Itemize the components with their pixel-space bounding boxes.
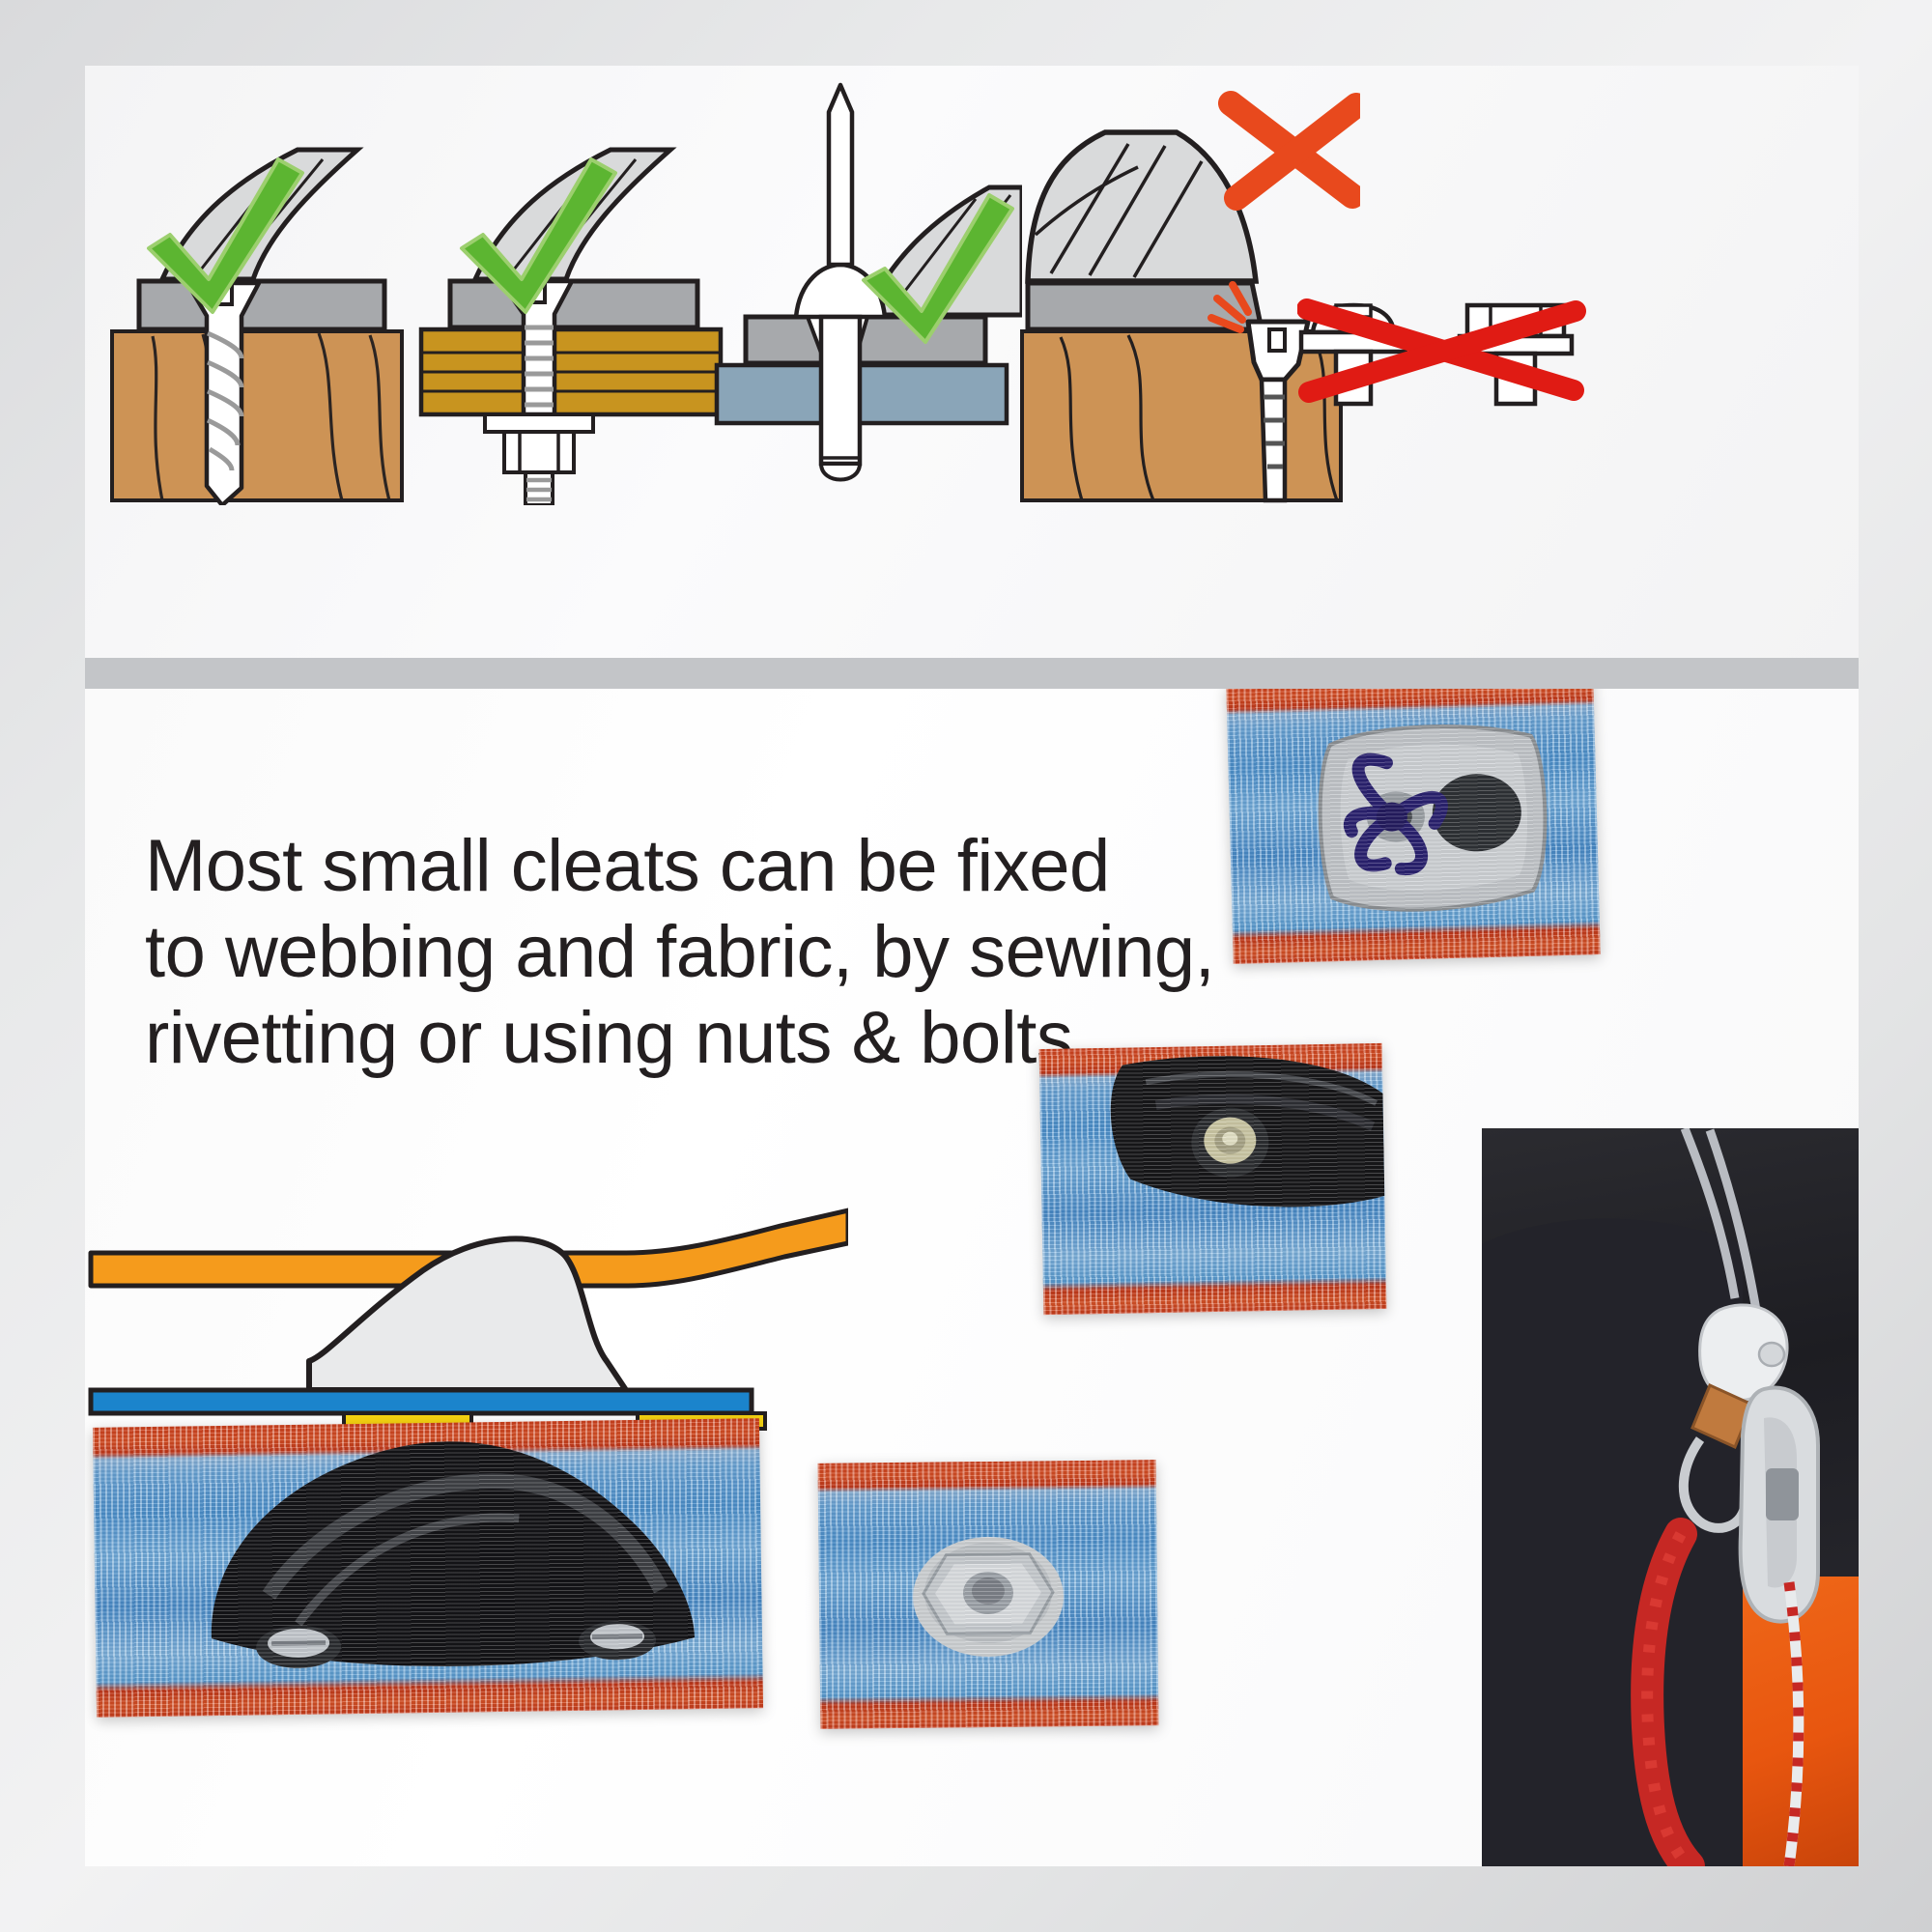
diagram-cleat-section <box>85 1201 848 1442</box>
photo-nyloc-nut <box>818 1460 1159 1729</box>
poster-card: Most small cleats can be fixed to webbin… <box>85 66 1859 1866</box>
fig-wrong-head-types <box>1297 298 1587 462</box>
fig-pop-rivet <box>703 75 1022 520</box>
caption-text: Most small cleats can be fixed to webbin… <box>145 824 1285 1082</box>
fig-bolt-through-plank <box>412 90 730 505</box>
fastening-methods-diagram-row <box>85 66 1859 658</box>
panel-divider <box>85 658 1859 689</box>
photo-riveted-cleat <box>1039 1043 1387 1315</box>
grey-cleat-lower <box>1741 1387 1818 1621</box>
cleat-mounting-examples: Most small cleats can be fixed to webbin… <box>85 689 1859 1866</box>
fig-screw-into-wood <box>95 90 413 505</box>
photo-boat-rigging <box>1482 1128 1859 1866</box>
photo-large-cleat-on-webbing <box>93 1418 763 1718</box>
photo-sewn-cleat <box>1226 689 1600 964</box>
cross-icon <box>1231 103 1356 198</box>
